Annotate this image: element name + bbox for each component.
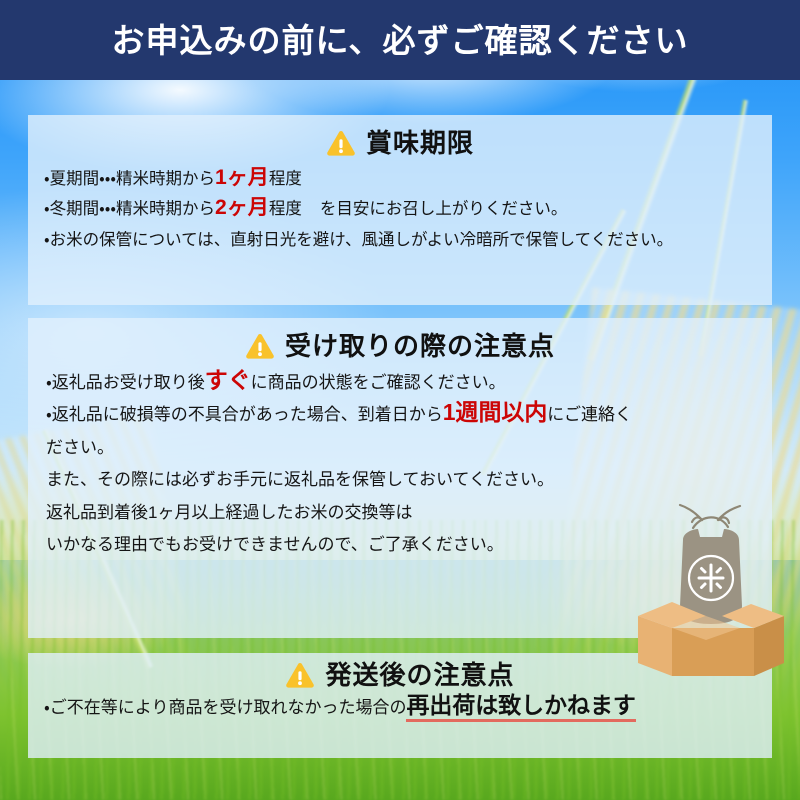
text-run: 返礼品到着後1ヶ月以上経過したお米の交換等は (46, 503, 412, 522)
page-header-banner: お申込みの前に、必ずご確認ください (0, 0, 800, 80)
text-run: ・夏期間・・・精米時期から (44, 170, 215, 188)
notice-line: また、その際には必ずお手元に返礼品を保管しておいてください。 (46, 466, 758, 495)
section-body: ・ご不在等により商品を受け取れなかった場合の再出荷は致しかねます (28, 694, 772, 722)
text-run: ださい。 (46, 438, 114, 457)
notice-line: ・返礼品に破損等の不具合があった場合、到着日から1週間以内にご連絡く (46, 401, 758, 430)
bag-tie-string (680, 505, 740, 528)
section-title: 受け取りの際の注意点 (285, 332, 555, 361)
emphasis-text: 1週間以内 (443, 399, 548, 425)
notice-line: ださい。 (46, 434, 758, 463)
warning-triangle-icon (285, 662, 315, 689)
warning-triangle-icon (326, 130, 356, 157)
section-heading: 受け取りの際の注意点 (28, 332, 772, 361)
emphasis-text: すぐ (205, 367, 251, 393)
emphasis-text: 1ヶ月 (215, 166, 269, 189)
warning-triangle-icon (245, 333, 275, 360)
text-run: に商品の状態をご確認ください。 (251, 373, 506, 392)
text-run: ・ご不在等により商品を受け取れなかった場合の (44, 698, 406, 717)
text-run: にご連絡く (547, 405, 632, 424)
text-run: ・お米の保管については、直射日光を避け、風通しがよい冷暗所で保管してください。 (44, 231, 673, 249)
text-run: ・冬期間・・・精米時期から (44, 200, 215, 218)
text-run: また、その際には必ずお手元に返礼品を保管しておいてください。 (46, 470, 554, 489)
text-run: 程度 (269, 200, 302, 218)
notice-line: ・ご不在等により商品を受け取れなかった場合の再出荷は致しかねます (44, 694, 758, 722)
section-heading: 賞味期限 (28, 129, 772, 158)
text-run: 程度 (269, 170, 302, 188)
rice-kanji-mark (699, 565, 723, 591)
section-title: 発送後の注意点 (325, 661, 514, 690)
notice-line: ・返礼品お受け取り後すぐに商品の状態をご確認ください。 (46, 369, 758, 398)
text-run: ・返礼品に破損等の不具合があった場合、到着日から (46, 405, 443, 424)
section-title: 賞味期限 (366, 129, 474, 158)
section-best-before: 賞味期限 ・夏期間・・・精米時期から1ヶ月程度 ・冬期間・・・精米時期から2ヶ月… (28, 115, 772, 305)
text-run: を目安にお召し上がりください。 (320, 200, 568, 218)
rice-bag-box-illustration (636, 498, 786, 683)
section-body: ・夏期間・・・精米時期から1ヶ月程度 ・冬期間・・・精米時期から2ヶ月程度を目安… (28, 166, 772, 254)
emphasis-underlined-text: 再出荷は致しかねます (406, 692, 635, 722)
page-title: お申込みの前に、必ずご確認ください (111, 24, 688, 57)
emphasis-text: 2ヶ月 (215, 196, 269, 219)
text-run: ・返礼品お受け取り後 (46, 373, 205, 392)
notice-line: ・お米の保管については、直射日光を避け、風通しがよい冷暗所で保管してください。 (44, 227, 758, 254)
notice-line: ・夏期間・・・精米時期から1ヶ月程度 (44, 166, 758, 193)
text-run: いかなる理由でもお受けできませんので、ご了承ください。 (46, 535, 504, 554)
notice-line: ・冬期間・・・精米時期から2ヶ月程度を目安にお召し上がりください。 (44, 196, 758, 223)
promo-notice-page: お申込みの前に、必ずご確認ください 賞味期限 ・夏期間・・・精米時期から1ヶ月程… (0, 0, 800, 800)
